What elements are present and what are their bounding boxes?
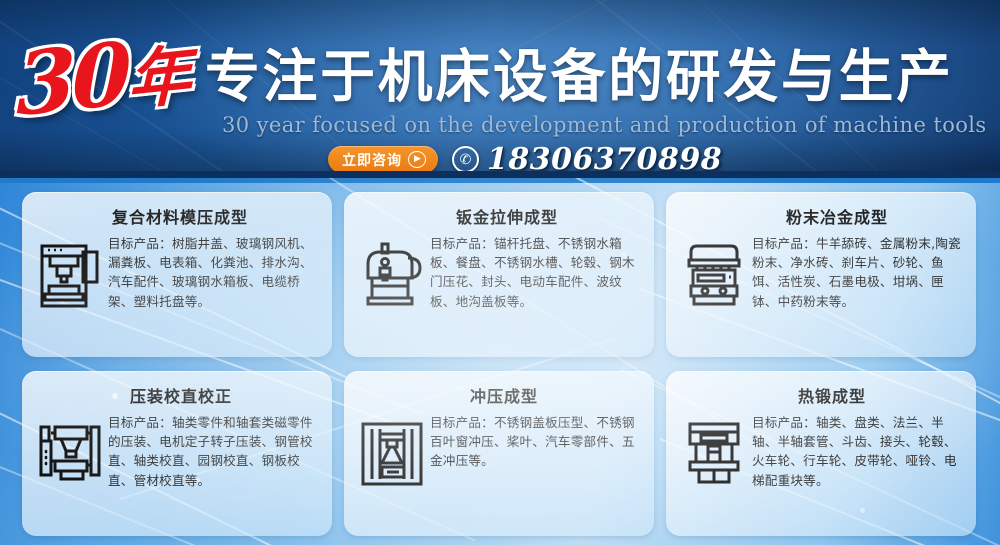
panel-top-strip: [0, 178, 1000, 183]
hero-divider: [0, 171, 1000, 178]
product-card[interactable]: 压装校直校正 目标产品：轴类零件和轴套类磁零件的压装、电机定子转子压装、钢管校直…: [22, 371, 332, 536]
product-card-desc: 目标产品：牛羊舔砖、金属粉末,陶瓷粉末、净水砖、刹车片、砂轮、鱼饵、活性炭、石墨…: [752, 234, 964, 311]
consult-now-label: 立即咨询: [342, 150, 402, 170]
product-card-body: 复合材料模压成型 目标产品：树脂井盖、玻璃钢风机、漏粪板、电表箱、化粪池、排水沟…: [108, 202, 320, 311]
consult-now-button[interactable]: 立即咨询 ▶: [328, 146, 438, 173]
product-card[interactable]: 复合材料模压成型 目标产品：树脂井盖、玻璃钢风机、漏粪板、电表箱、化粪池、排水沟…: [22, 192, 332, 357]
product-card-title: 冲压成型: [470, 387, 642, 406]
product-card-desc: 目标产品：轴类零件和轴套类磁零件的压装、电机定子转子压装、钢管校直、轴类校直、园…: [108, 413, 320, 490]
product-card-body: 钣金拉伸成型 目标产品：锚杆托盘、不锈钢水箱板、餐盘、不锈钢水槽、轮毂、钢木门压…: [430, 202, 642, 311]
press-fit-straightening-icon: [32, 381, 108, 526]
hero-section: 30年 专注于机床设备的研发与生产 30 year focused on the…: [0, 0, 1000, 178]
products-panel: 复合材料模压成型 目标产品：树脂井盖、玻璃钢风机、漏粪板、电表箱、化粪池、排水沟…: [0, 178, 1000, 545]
product-card[interactable]: 热锻成型 目标产品：轴类、盘类、法兰、半轴、半轴套管、斗齿、接头、轮毂、火车轮、…: [666, 371, 976, 536]
stamping-press-icon: [354, 381, 430, 526]
product-card[interactable]: 粉末冶金成型 目标产品：牛羊舔砖、金属粉末,陶瓷粉末、净水砖、刹车片、砂轮、鱼饵…: [666, 192, 976, 357]
product-card[interactable]: 钣金拉伸成型 目标产品：锚杆托盘、不锈钢水箱板、餐盘、不锈钢水槽、轮毂、钢木门压…: [344, 192, 654, 357]
product-card-body: 热锻成型 目标产品：轴类、盘类、法兰、半轴、半轴套管、斗齿、接头、轮毂、火车轮、…: [752, 381, 964, 490]
promo-banner: 30年 专注于机床设备的研发与生产 30 year focused on the…: [0, 0, 1000, 545]
phone-icon: ✆: [452, 146, 479, 173]
product-card-desc: 目标产品：不锈钢盖板压型、不锈钢百叶窗冲压、桨叶、汽车零部件、五金冲压等。: [430, 413, 642, 470]
composite-molding-press-icon: [32, 202, 108, 347]
years-number: 30: [16, 23, 127, 136]
page-subtitle: 30 year focused on the development and p…: [222, 113, 982, 137]
product-card-title: 粉末冶金成型: [786, 208, 964, 227]
hot-forging-press-icon: [676, 381, 752, 526]
sheet-metal-stretch-press-icon: [354, 202, 430, 347]
product-card-title: 热锻成型: [798, 387, 964, 406]
product-card-body: 压装校直校正 目标产品：轴类零件和轴套类磁零件的压装、电机定子转子压装、钢管校直…: [108, 381, 320, 490]
arrow-right-icon: ▶: [408, 151, 426, 168]
powder-metallurgy-press-icon: [676, 202, 752, 347]
product-card-desc: 目标产品：锚杆托盘、不锈钢水箱板、餐盘、不锈钢水槽、轮毂、钢木门压花、封头、电动…: [430, 234, 642, 311]
product-card-body: 粉末冶金成型 目标产品：牛羊舔砖、金属粉末,陶瓷粉末、净水砖、刹车片、砂轮、鱼饵…: [752, 202, 964, 311]
product-card-grid: 复合材料模压成型 目标产品：树脂井盖、玻璃钢风机、漏粪板、电表箱、化粪池、排水沟…: [22, 192, 978, 536]
years-badge: 30年: [16, 25, 187, 129]
product-card-body: 冲压成型 目标产品：不锈钢盖板压型、不锈钢百叶窗冲压、桨叶、汽车零部件、五金冲压…: [430, 381, 642, 471]
product-card-title: 复合材料模压成型: [112, 208, 320, 227]
years-unit: 年: [128, 38, 188, 120]
product-card-title: 压装校直校正: [130, 387, 320, 406]
product-card-desc: 目标产品：轴类、盘类、法兰、半轴、半轴套管、斗齿、接头、轮毂、火车轮、行车轮、皮…: [752, 413, 964, 490]
product-card-desc: 目标产品：树脂井盖、玻璃钢风机、漏粪板、电表箱、化粪池、排水沟、汽车配件、玻璃钢…: [108, 234, 320, 311]
product-card-title: 钣金拉伸成型: [456, 208, 642, 227]
product-card[interactable]: 冲压成型 目标产品：不锈钢盖板压型、不锈钢百叶窗冲压、桨叶、汽车零部件、五金冲压…: [344, 371, 654, 536]
page-title: 专注于机床设备的研发与生产: [205, 46, 963, 108]
